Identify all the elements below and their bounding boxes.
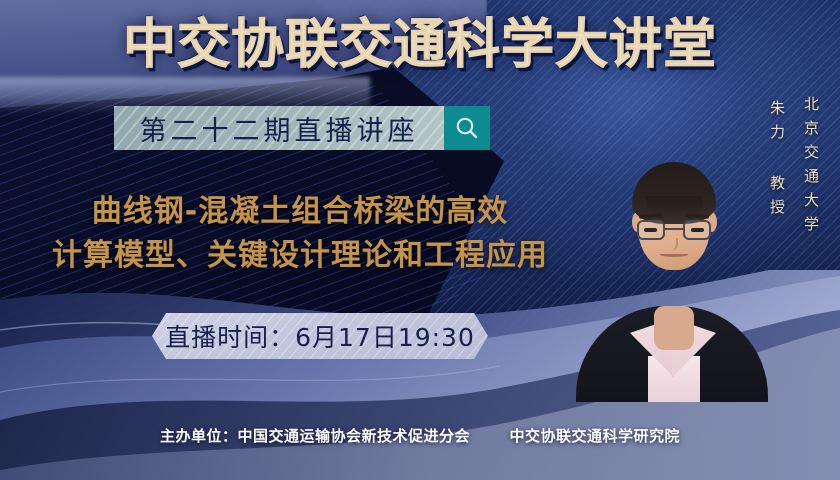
speaker-portrait: [580, 140, 762, 402]
episode-banner: 第二十二期直播讲座: [114, 106, 444, 150]
search-icon: [454, 115, 480, 141]
live-lecture-poster: 中交协联交通科学大讲堂 第二十二期直播讲座 曲线钢-混凝土组合桥梁的高效 计算模…: [0, 0, 840, 480]
footer-institute: 中交协联交通科学研究院: [509, 425, 680, 446]
lecture-topic: 曲线钢-混凝土组合桥梁的高效 计算模型、关键设计理论和工程应用: [0, 190, 600, 278]
speaker-mouth: [660, 252, 688, 257]
speaker-glasses-bridge: [665, 228, 683, 230]
lecture-topic-line2: 计算模型、关键设计理论和工程应用: [0, 234, 600, 278]
speaker-eye-right: [691, 228, 704, 232]
page-title: 中交协联交通科学大讲堂: [0, 14, 840, 76]
footer-organizer: 主办单位：中国交通运输协会新技术促进分会: [160, 425, 470, 446]
lecture-topic-line1: 曲线钢-混凝土组合桥梁的高效: [0, 190, 600, 234]
broadcast-time-badge: 直播时间：6月17日19:30: [152, 313, 488, 359]
episode-label: 第二十二期直播讲座: [140, 109, 419, 148]
speaker-name: 朱力 教授: [767, 100, 788, 223]
speaker-affiliation: 北京交通大学: [801, 96, 822, 240]
speaker-neck: [654, 306, 694, 350]
search-button[interactable]: [444, 106, 490, 150]
broadcast-time-label: 直播时间：6月17日19:30: [165, 318, 475, 354]
speaker-eye-left: [644, 228, 657, 232]
footer: 主办单位：中国交通运输协会新技术促进分会 中交协联交通科学研究院: [0, 425, 840, 446]
